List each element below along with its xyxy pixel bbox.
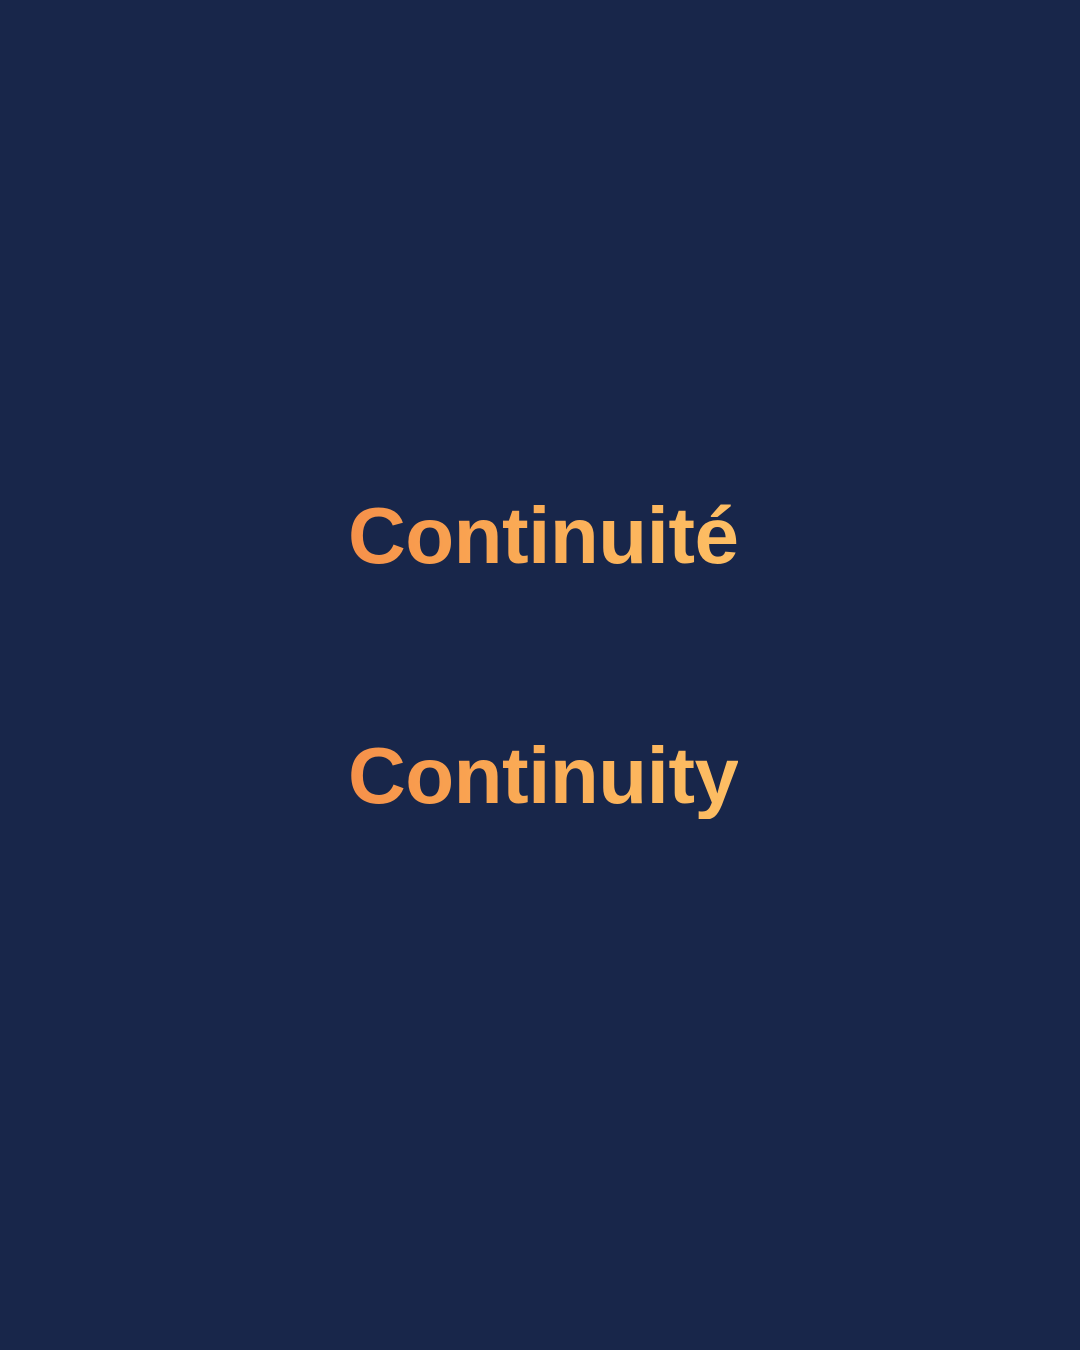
primary-word-french: Continuité: [348, 494, 738, 579]
poster-canvas: Continuité Continuity: [0, 0, 1080, 1350]
secondary-word-english: Continuity: [348, 734, 738, 819]
bilingual-word-stack: Continuité Continuity: [348, 494, 948, 819]
